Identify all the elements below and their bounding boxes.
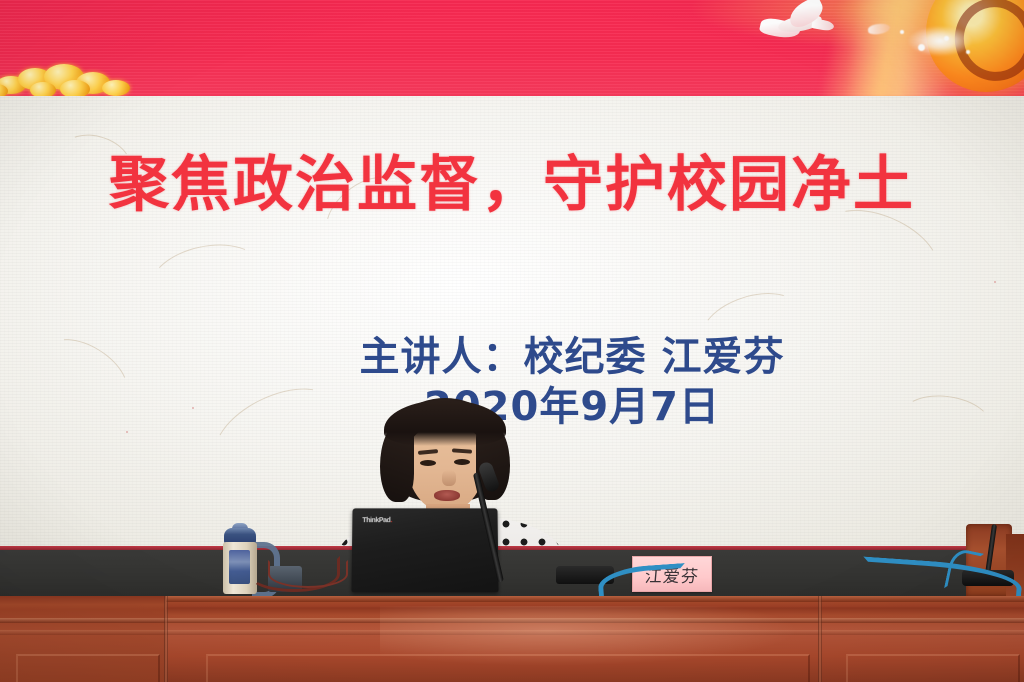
lecture-photo: 聚焦政治监督，守护校园净土 主讲人：校纪委 江爱芬 2020年9月7日 [0, 0, 1024, 682]
red-cable [268, 560, 348, 588]
sparkle-icon [900, 30, 904, 34]
hair-fringe [384, 400, 506, 446]
red-banner-backdrop [0, 0, 1024, 96]
sparkle-icon [918, 44, 925, 51]
slide-title: 聚焦政治监督，守护校园净土 [0, 154, 1024, 217]
laptop: ThinkPad. [351, 508, 498, 592]
gold-ornament-icon [0, 54, 140, 96]
laptop-brand-logo: ThinkPad. [362, 517, 392, 524]
wooden-podium [0, 596, 1024, 682]
white-dove-icon [758, 4, 836, 46]
emblem-glow [908, 26, 972, 56]
mouth [434, 490, 460, 501]
sparkle-icon [966, 50, 970, 54]
nose [442, 470, 456, 486]
sparkle-icon [944, 36, 949, 41]
